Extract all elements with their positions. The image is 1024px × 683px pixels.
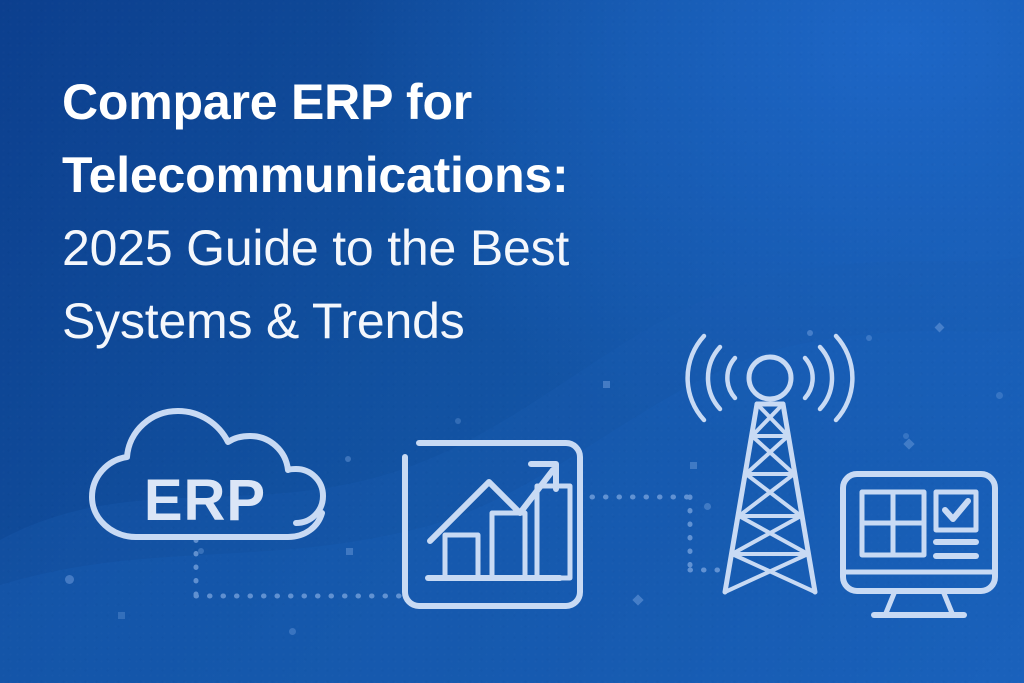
- decor-particle: [65, 575, 74, 584]
- decor-particle: [632, 594, 643, 605]
- decor-particle: [996, 392, 1003, 399]
- decor-particle: [903, 438, 914, 449]
- decor-particle: [807, 330, 813, 336]
- decor-particle: [198, 548, 204, 554]
- decor-particle: [704, 503, 711, 510]
- decor-particle: [455, 418, 461, 424]
- decor-particle: [866, 335, 872, 341]
- decor-particle: [346, 548, 353, 555]
- hero-banner: Compare ERP for Telecommunications: 2025…: [0, 0, 1024, 683]
- decorative-particles: [0, 0, 1024, 683]
- decor-particle: [118, 612, 125, 619]
- decor-particle: [935, 323, 945, 333]
- decor-particle: [603, 381, 610, 388]
- decor-particle: [690, 462, 697, 469]
- decor-particle: [289, 628, 296, 635]
- decor-particle: [345, 456, 351, 462]
- decor-particle: [903, 433, 909, 439]
